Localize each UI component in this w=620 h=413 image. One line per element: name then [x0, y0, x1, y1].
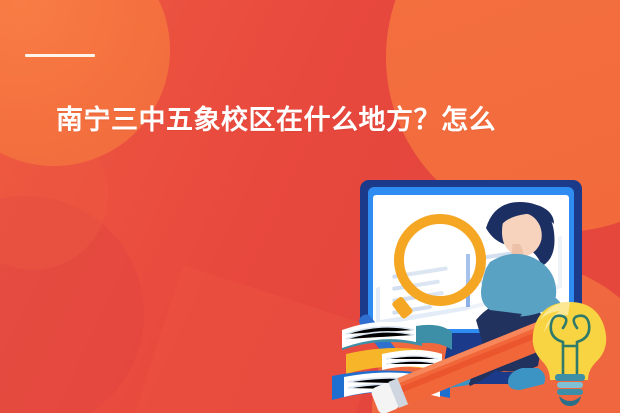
page-title: 南宁三中五象校区在什么地方？怎么 [56, 104, 586, 138]
accent-rule [25, 54, 95, 57]
promo-banner: 南宁三中五象校区在什么地方？怎么 [0, 0, 620, 413]
lightbulb-icon [533, 302, 607, 406]
hero-illustration [330, 170, 620, 413]
